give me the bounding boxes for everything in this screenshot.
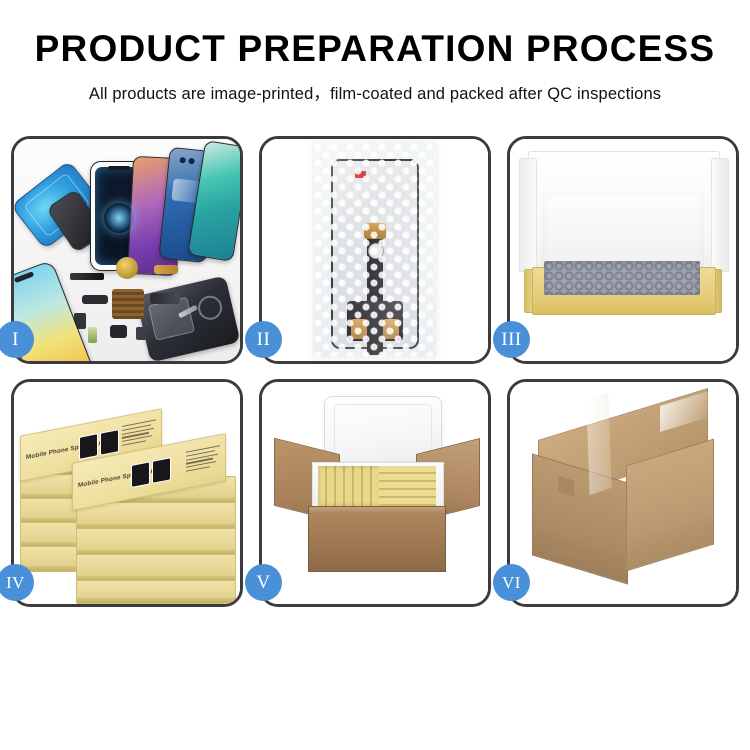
speaker-bar-icon	[70, 273, 104, 280]
step-iv-image: Mobile Phone Spare Parts Mobile Phone Sp…	[14, 382, 240, 604]
box-artwork-phone-icon	[79, 433, 98, 460]
page-title: PRODUCT PREPARATION PROCESS	[0, 30, 750, 69]
bubble-wrap-bag	[314, 143, 436, 357]
box-stack: Mobile Phone Spare Parts Mobile Phone Sp…	[20, 404, 236, 596]
step-vi-image	[510, 382, 736, 604]
gray-foam-padding-icon	[544, 261, 700, 295]
step-i-image	[14, 139, 240, 361]
battery-cell-icon	[88, 327, 97, 343]
copper-coil-icon	[116, 257, 138, 279]
step-badge-ii: II	[245, 321, 282, 358]
process-step-panel-iii: III	[507, 136, 739, 364]
cardboard-carton-icon	[308, 506, 446, 572]
page-header: PRODUCT PREPARATION PROCESS All products…	[0, 0, 750, 104]
step-badge-vi: VI	[493, 564, 530, 601]
connector-grid-icon	[112, 289, 144, 319]
step-badge-iii: III	[493, 321, 530, 358]
tweezers-icon	[178, 305, 198, 319]
earpiece-icon	[110, 325, 127, 338]
box-artwork-phone-icon	[152, 457, 171, 484]
process-step-grid: I II III	[11, 136, 739, 607]
stack-layer	[76, 580, 236, 604]
white-foam-sheet-icon	[542, 193, 704, 267]
box-artwork-phone-icon	[100, 429, 119, 456]
packed-yellow-boxes-icon	[318, 466, 436, 506]
chip-icon	[136, 327, 147, 340]
stack-layer	[76, 502, 236, 530]
step-badge-v: V	[245, 564, 282, 601]
camera-module-icon	[82, 295, 108, 304]
gold-flex-cable-icon	[154, 265, 178, 274]
process-step-panel-ii: II	[259, 136, 491, 364]
step-ii-image	[262, 139, 488, 361]
process-step-panel-v: V	[259, 379, 491, 607]
wallpaper-orb-icon	[104, 203, 134, 233]
plastic-sheen-overlay	[314, 143, 436, 357]
notch-icon	[108, 166, 130, 170]
process-step-panel-iv: Mobile Phone Spare Parts Mobile Phone Sp…	[11, 379, 243, 607]
spare-parts-group	[70, 257, 198, 351]
process-step-panel-i: I	[11, 136, 243, 364]
process-step-panel-vi: VI	[507, 379, 739, 607]
phone-screen-fan	[14, 139, 240, 263]
stack-layer	[76, 528, 236, 556]
packing-tape-icon	[586, 393, 611, 495]
box-artwork-phone-icon	[131, 461, 150, 488]
flex-cable-icon	[150, 293, 180, 304]
stack-layer	[76, 554, 236, 582]
step-v-image	[262, 382, 488, 604]
box-spec-lines	[186, 445, 220, 478]
step-iii-image	[510, 139, 736, 361]
page-subtitle: All products are image-printed，film-coat…	[0, 80, 750, 104]
